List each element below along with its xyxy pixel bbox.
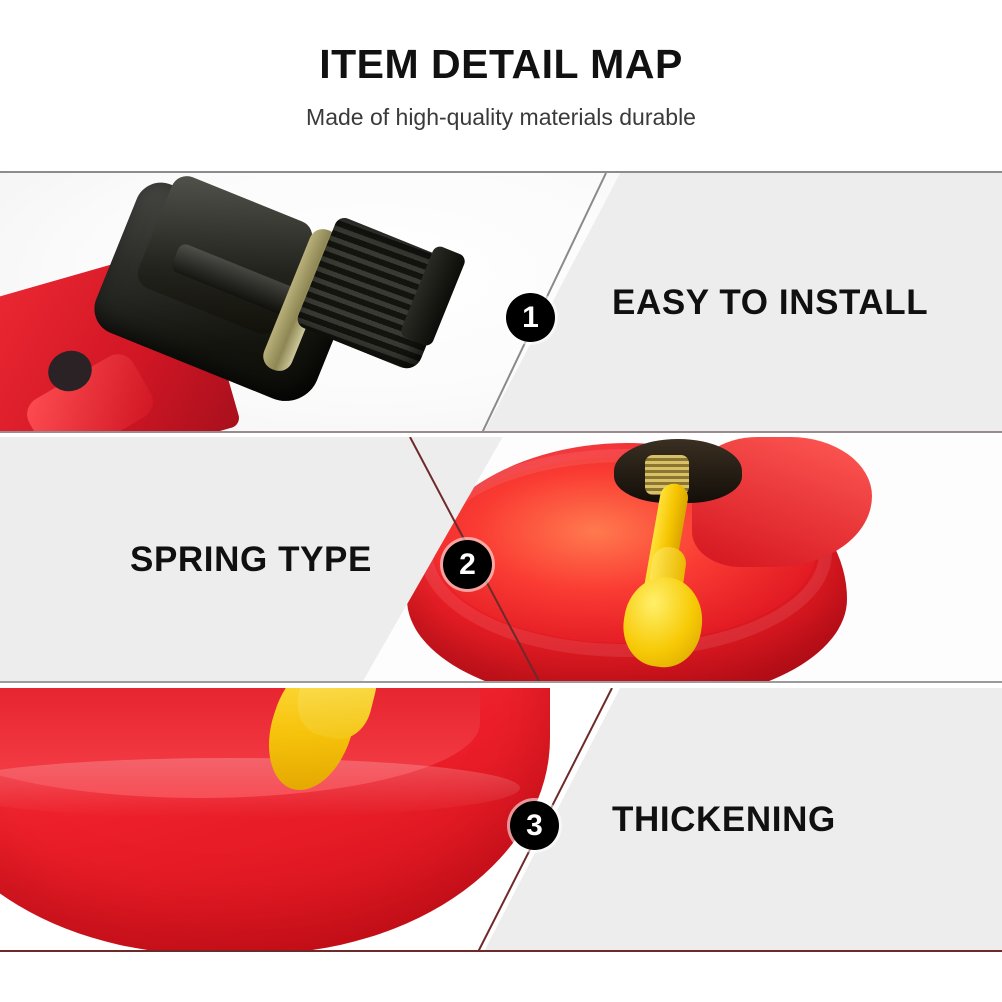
page-title: ITEM DETAIL MAP [319, 44, 683, 85]
feature-1-text-panel: EASY TO INSTALL [532, 173, 1002, 433]
feature-1-badge-number: 1 [522, 303, 539, 333]
feature-3-label: THICKENING [612, 800, 836, 840]
infographic-page: ITEM DETAIL MAP Made of high-quality mat… [0, 0, 1002, 1002]
feature-3-badge: 3 [510, 801, 559, 850]
feature-2-label: SPRING TYPE [130, 540, 372, 580]
feature-2-badge: 2 [443, 540, 492, 589]
feature-1-bottom-rule [0, 431, 1002, 433]
feature-2-badge-number: 2 [459, 550, 476, 580]
feature-row-1: EASY TO INSTALL 1 [0, 173, 1002, 433]
feature-row-3: THICKENING 3 [0, 688, 1002, 952]
header: ITEM DETAIL MAP Made of high-quality mat… [0, 0, 1002, 173]
feature-3-badge-number: 3 [526, 811, 543, 841]
feature-2-bottom-rule [0, 681, 1002, 683]
feature-3-text-panel: THICKENING [532, 688, 1002, 952]
page-subtitle: Made of high-quality materials durable [306, 104, 696, 131]
feature-row-2: SPRING TYPE 2 [0, 437, 1002, 683]
feature-1-label: EASY TO INSTALL [612, 283, 928, 323]
feature-1-badge: 1 [506, 293, 555, 342]
feature-3-bottom-rule [0, 950, 1002, 952]
